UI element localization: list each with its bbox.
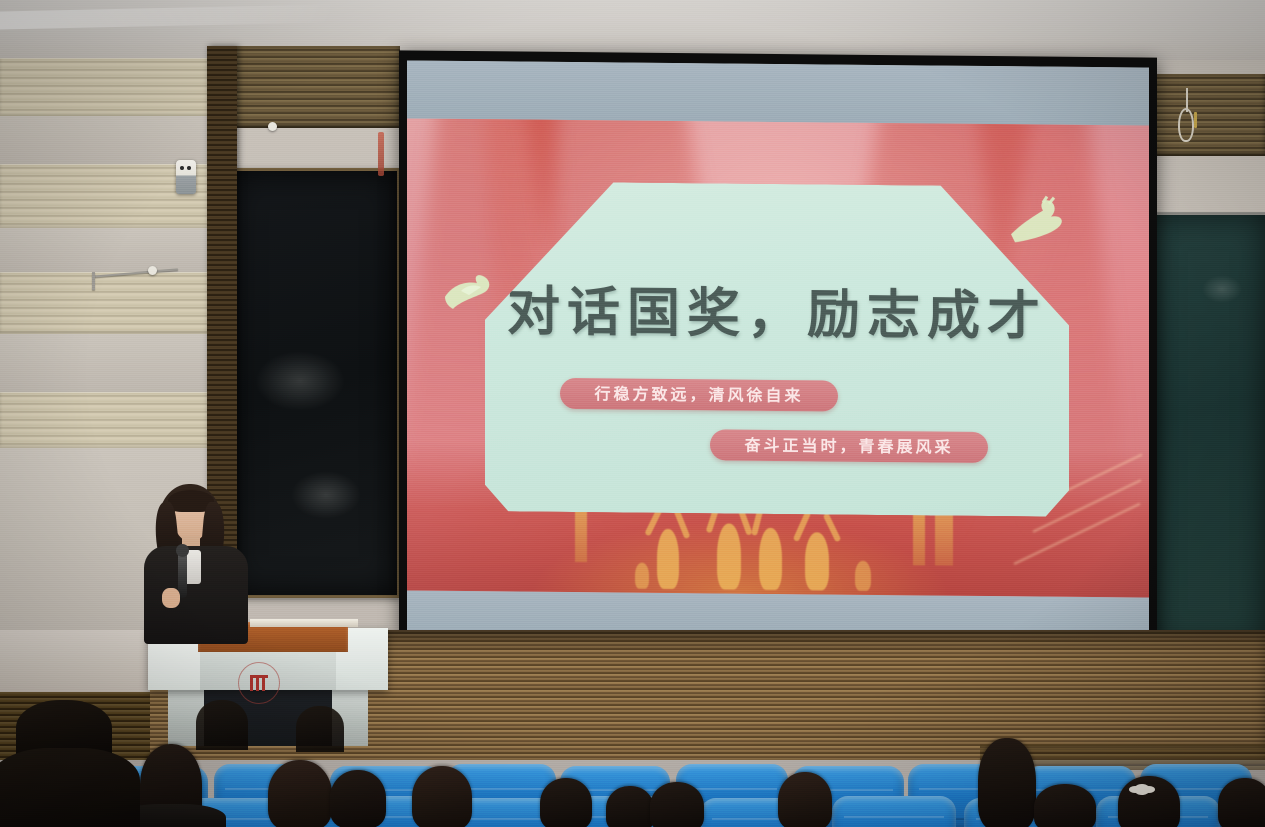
dove-icon — [1003, 194, 1067, 247]
wire-knob — [148, 266, 157, 275]
foreground-person-body — [0, 748, 140, 827]
slide-figure-arm — [823, 513, 842, 543]
dove-icon — [439, 271, 495, 314]
audience-head — [268, 760, 332, 827]
board-top-vent-left — [212, 46, 400, 128]
slide-title: 对话国奖，励志成才 — [485, 269, 1069, 351]
audience-head — [606, 786, 654, 827]
seat — [832, 796, 956, 827]
slide-figure — [717, 523, 741, 589]
board-smudge — [1202, 275, 1242, 303]
board-top-vent-right — [1152, 74, 1265, 156]
slide-figure — [855, 561, 871, 591]
presenter — [136, 484, 256, 644]
board-smudge — [255, 351, 345, 411]
hair-bow — [1134, 784, 1150, 795]
audience-head — [330, 770, 386, 827]
wall-stripe-band-1 — [0, 58, 212, 116]
wall-sensor-box — [176, 160, 196, 194]
blackboard-right — [1152, 212, 1265, 646]
cord-clip — [1194, 112, 1197, 128]
board-marker-holder — [378, 132, 384, 176]
cord-loop — [1178, 108, 1194, 142]
wall-plaster-2 — [0, 228, 212, 272]
audience-head — [1218, 778, 1265, 827]
presenter-hand — [162, 588, 180, 608]
wire-drop — [92, 272, 95, 290]
wall-side-patch — [0, 630, 150, 692]
screen-letterbox-top — [407, 60, 1149, 125]
slide-badge-1: 行稳方致远，清风徐自来 — [560, 378, 838, 412]
board-smudge — [291, 471, 361, 519]
projection-screen-frame: 对话国奖，励志成才 行稳方致远，清风徐自来 奋斗正当时，青春展风采 — [399, 50, 1157, 649]
slide-figure — [805, 532, 829, 590]
foreground-person — [296, 706, 344, 752]
wall-stripe-band-4 — [0, 392, 212, 448]
audience-head — [978, 738, 1036, 827]
slide-badge-2: 奋斗正当时，青春展风采 — [710, 429, 988, 463]
seal-icon — [238, 662, 280, 704]
audience-head — [412, 766, 472, 827]
slide-figure — [759, 528, 782, 590]
foreground-person — [196, 700, 248, 750]
wall-plaster-3 — [0, 334, 212, 392]
wall-plaster-1 — [0, 116, 212, 164]
slide-title-card: 对话国奖，励志成才 行稳方致远，清风徐自来 奋斗正当时，青春展风采 — [485, 181, 1069, 517]
audience-head — [778, 772, 832, 827]
audience-head — [1034, 784, 1096, 827]
audience-head — [540, 778, 592, 827]
board-hook — [268, 122, 277, 131]
wall-stripe-band-3 — [0, 272, 212, 334]
lecture-hall-scene: 对话国奖，励志成才 行稳方致远，清风徐自来 奋斗正当时，青春展风采 — [0, 0, 1265, 827]
slide-figure — [657, 529, 679, 589]
projection-screen-surface: 对话国奖，励志成才 行稳方致远，清风徐自来 奋斗正当时，青春展风采 — [407, 60, 1149, 639]
audience-head — [650, 782, 704, 827]
audience-area — [0, 738, 1265, 827]
microphone-icon — [178, 552, 187, 598]
wall-upper-band — [0, 0, 1265, 60]
presentation-slide: 对话国奖，励志成才 行稳方致远，清风徐自来 奋斗正当时，青春展风采 — [407, 118, 1149, 597]
podium-ledge — [250, 619, 358, 627]
slide-figure — [635, 563, 649, 589]
slide-figure-arm — [674, 509, 691, 539]
audience-head — [1118, 776, 1180, 827]
